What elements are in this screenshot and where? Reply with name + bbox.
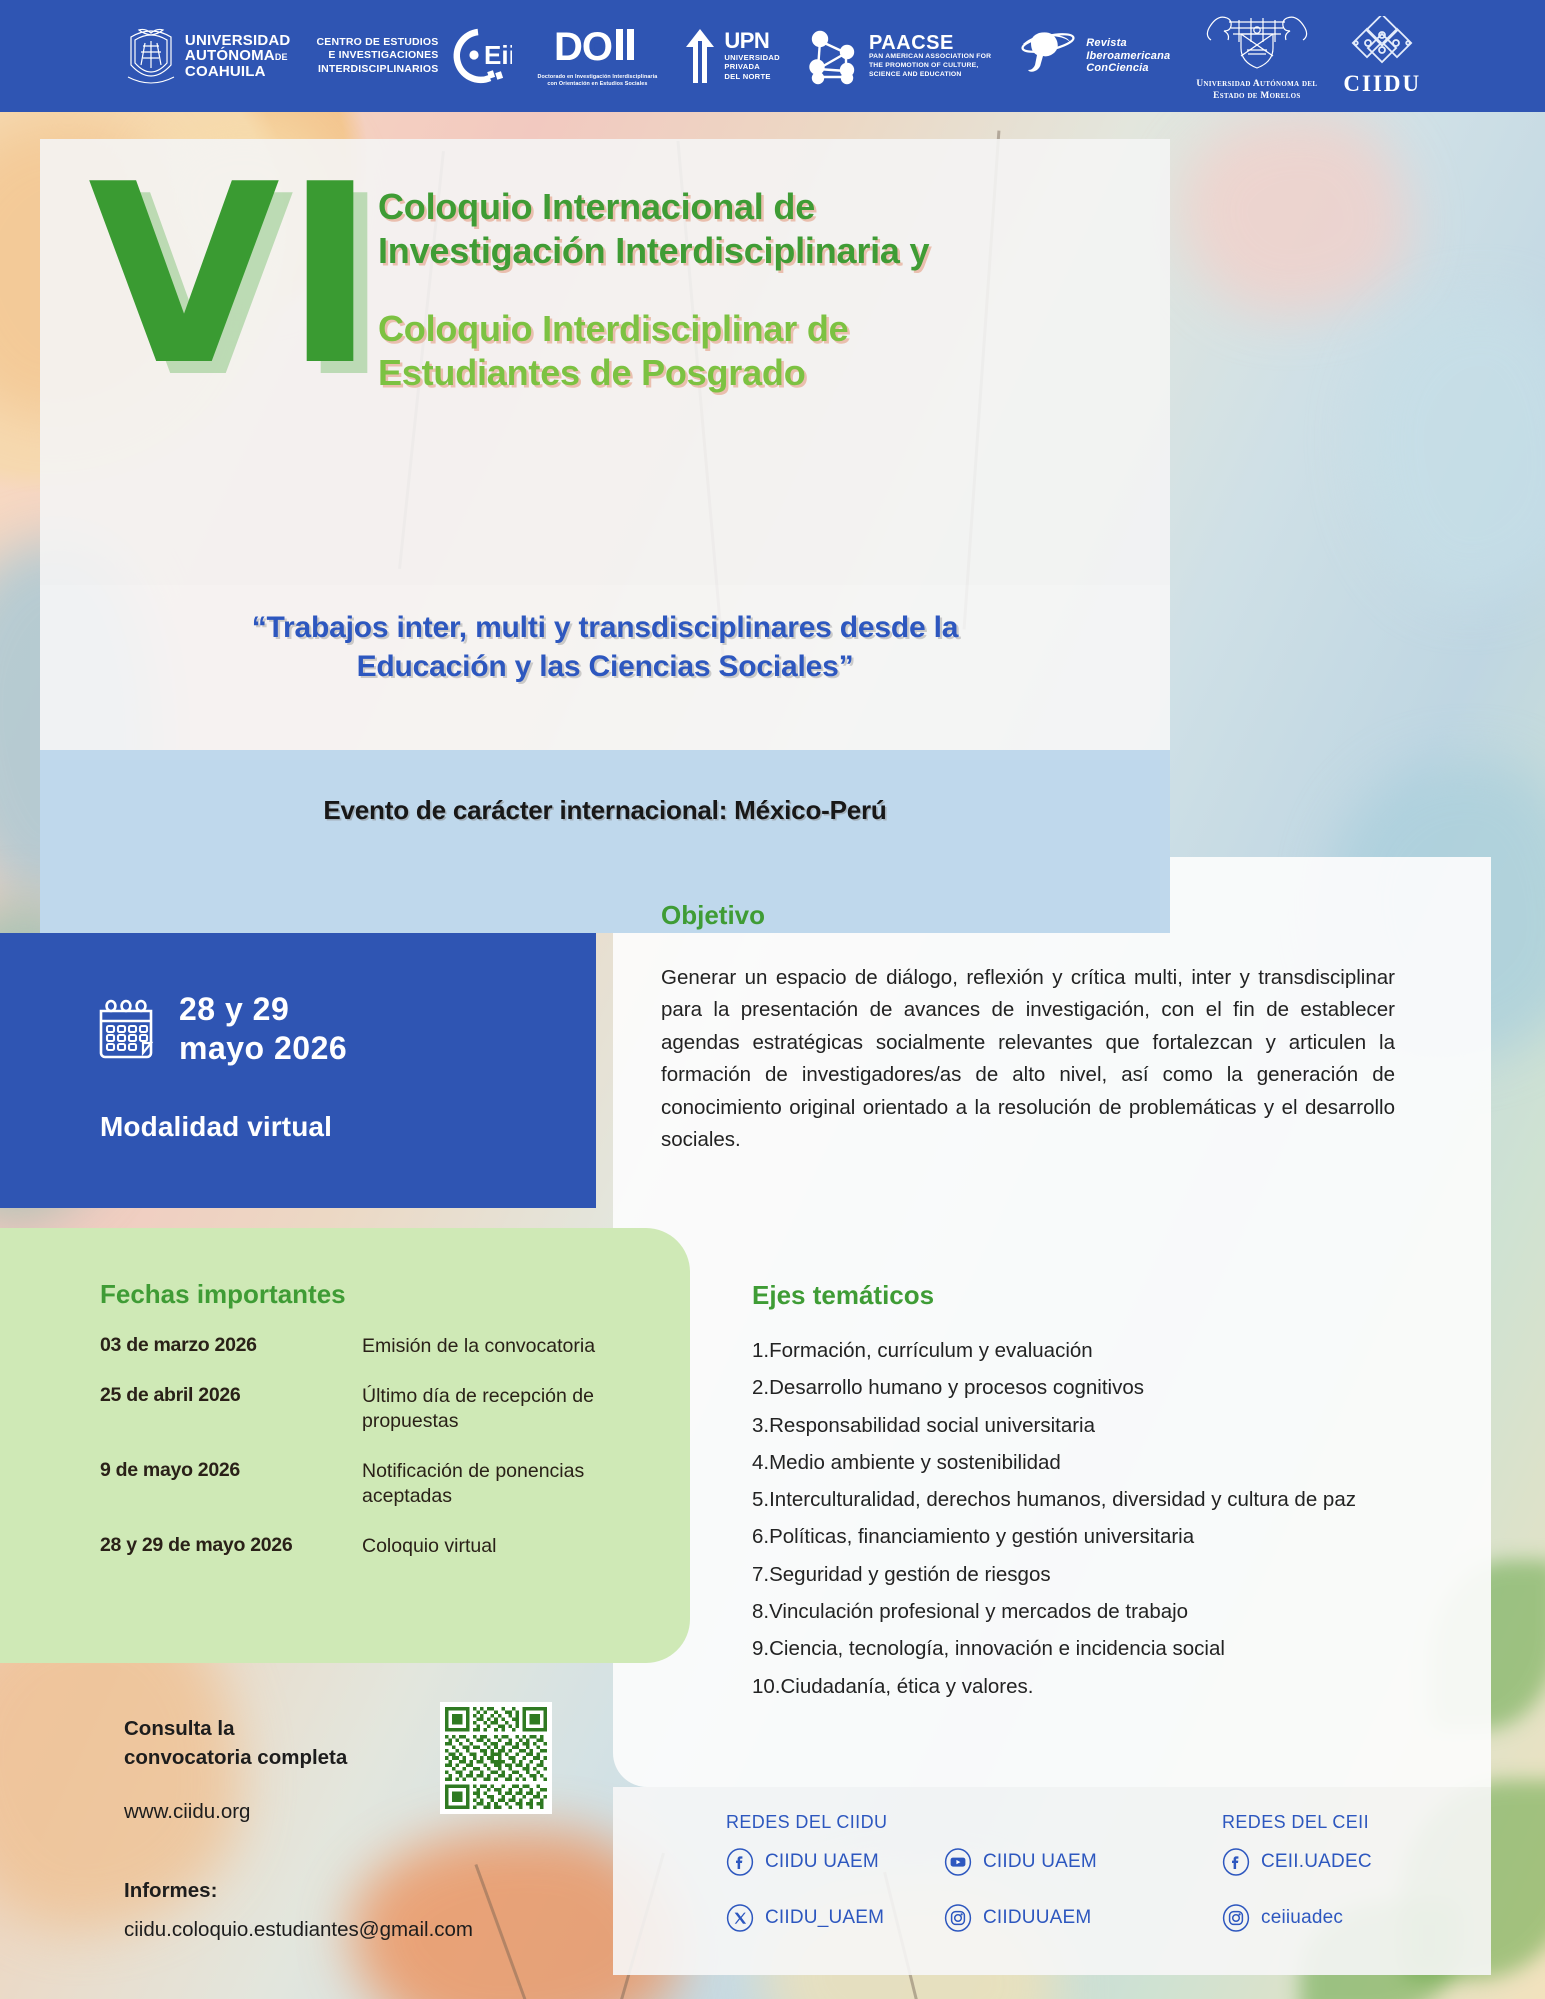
logo-paacse: PAACSE PAN AMERICAN ASSOCIATION FOR THE … [806,27,991,85]
instagram-icon [944,1904,972,1932]
logo-universidad-autonoma-de-coahuila: UNIVERSIDAD AUTÓNOMADE COAHUILA [124,21,291,91]
theme-item: 1.Formación, currículum y evaluación [752,1337,1392,1365]
important-date-value: 03 de marzo 2026 [100,1334,362,1359]
theme-text: Formación, currículum y evaluación [769,1339,1093,1362]
upn-arrow-icon [683,25,717,87]
calendar-icon [95,997,159,1061]
social-link-ciidu-youtube[interactable]: CIIDU UAEM [944,1848,1097,1876]
social-link-ceii-facebook[interactable]: CEII.UADEC [1222,1848,1372,1876]
social-link-ciidu-x[interactable]: CIIDU_UAEM [726,1904,884,1932]
ceii-monogram-icon: Eii [446,27,512,85]
social-link-ciidu-instagram[interactable]: CIIDUUAEM [944,1904,1091,1932]
important-date-row: 25 de abril 2026 Último día de recepción… [100,1384,660,1434]
event-theme-quote-line1: “Trabajos inter, multi y transdisciplina… [60,608,1150,647]
paacse-sub2: THE PROMOTION OF CULTURE, [869,62,991,71]
sponsor-logo-bar: UNIVERSIDAD AUTÓNOMADE COAHUILA CENTRO D… [0,0,1545,112]
upn-wordmark: UPN UNIVERSIDAD PRIVADA DEL NORTE [724,30,780,82]
theme-number: 7. [752,1563,769,1586]
uaem-sub2: Estado de Morelos [1196,91,1317,102]
theme-text: Medio ambiente y sostenibilidad [769,1451,1061,1474]
theme-text: Desarrollo humano y procesos cognitivos [769,1376,1144,1399]
paacse-wordmark: PAACSE PAN AMERICAN ASSOCIATION FOR THE … [869,33,991,80]
qr-code-icon[interactable] [440,1702,552,1814]
event-date-month-year: mayo 2026 [179,1029,347,1068]
social-label: CEII.UADEC [1261,1851,1372,1873]
important-dates-heading: Fechas importantes [100,1279,346,1310]
important-date-row: 28 y 29 de mayo 2026 Coloquio virtual [100,1534,660,1559]
uadec-line1: UNIVERSIDAD [185,33,291,48]
important-date-desc: Coloquio virtual [362,1534,496,1559]
qr-code-svg [445,1707,547,1809]
theme-text: Ciudadanía, ética y valores. [781,1675,1034,1698]
revista-line2: Iberoamericana [1086,50,1170,63]
logo-revista-iberoamericana-conciencia: Revista Iberoamericana ConCiencia [1017,27,1170,85]
important-date-value: 9 de mayo 2026 [100,1459,362,1509]
international-band [40,750,1170,933]
theme-item: 10.Ciudadanía, ética y valores. [752,1673,1392,1701]
theme-number: 10. [752,1675,781,1698]
logo-ciidu: CIIDU [1343,16,1421,96]
upn-sub2: PRIVADA [724,62,780,72]
uadec-wordmark: UNIVERSIDAD AUTÓNOMADE COAHUILA [185,33,291,79]
ceii-line1: CENTRO DE ESTUDIOS [316,36,438,49]
youtube-icon [944,1848,972,1876]
revista-line3: ConCiencia [1086,62,1170,75]
revista-wordmark: Revista Iberoamericana ConCiencia [1086,37,1170,75]
head-planet-icon [1017,27,1079,85]
event-title-primary: Coloquio Internacional de Investigación … [378,185,1148,273]
revista-line1: Revista [1086,37,1170,50]
social-label: CIIDU_UAEM [765,1907,884,1929]
logo-upn: UPN UNIVERSIDAD PRIVADA DEL NORTE [683,25,780,87]
theme-number: 5. [752,1488,769,1511]
paacse-sub1: PAN AMERICAN ASSOCIATION FOR [869,53,991,62]
theme-number: 4. [752,1451,769,1474]
uaem-crest-icon [1199,10,1315,72]
doii-monogram-icon: DO [554,25,640,67]
logo-doii: DO Doctorado en Investigación Interdisci… [538,25,658,88]
event-title-secondary: Coloquio Interdisciplinar de Estudiantes… [378,307,1148,395]
themes-list: 1.Formación, currículum y evaluación 2.D… [752,1337,1392,1710]
theme-text: Responsabilidad social universitaria [769,1414,1095,1437]
bg-blob-3 [1180,115,1410,315]
important-date-desc: Notificación de ponencias aceptadas [362,1459,660,1509]
theme-number: 8. [752,1600,769,1623]
event-modality: Modalidad virtual [100,1111,332,1143]
uadec-line3: COAHUILA [185,64,291,79]
important-dates-list: 03 de marzo 2026 Emisión de la convocato… [100,1334,660,1584]
ceii-line2: E INVESTIGACIONES [316,49,438,62]
doii-sub1: Doctorado en Investigación Interdiscipli… [538,74,658,81]
doii-sub2: con Orientación en Estudios Sociales [538,81,658,88]
event-date-days: 28 y 29 [179,990,347,1029]
consult-call-line2: convocatoria completa [124,1743,424,1772]
event-date-row: 28 y 29 mayo 2026 [95,990,347,1068]
social-link-ceii-instagram[interactable]: ceiiuadec [1222,1904,1343,1932]
event-title-primary-line1: Coloquio Internacional de [378,185,1148,229]
uadec-crest-icon [124,21,178,91]
theme-item: 2.Desarrollo humano y procesos cognitivo… [752,1374,1392,1402]
facebook-icon [1222,1848,1250,1876]
logo-ceii: CENTRO DE ESTUDIOS E INVESTIGACIONES INT… [316,27,511,85]
uadec-line2: AUTÓNOMA [185,47,275,64]
theme-text: Vinculación profesional y mercados de tr… [769,1600,1188,1623]
edition-numeral: VI [88,180,380,373]
theme-number: 6. [752,1525,769,1548]
theme-text: Políticas, financiamiento y gestión univ… [769,1525,1194,1548]
theme-item: 5.Interculturalidad, derechos humanos, d… [752,1486,1392,1514]
theme-text: Seguridad y gestión de riesgos [769,1563,1051,1586]
svg-text:Eii: Eii [484,40,512,70]
consult-call-heading: Consulta la convocatoria completa [124,1714,424,1772]
ciidu-wordmark: CIIDU [1343,72,1421,96]
important-date-row: 03 de marzo 2026 Emisión de la convocato… [100,1334,660,1359]
social-label: ceiiuadec [1261,1907,1343,1929]
facebook-icon [726,1848,754,1876]
objective-body: Generar un espacio de diálogo, reflexión… [661,962,1395,1156]
uadec-line2-wrap: AUTÓNOMADE [185,48,291,63]
informes-label: Informes: [124,1879,217,1903]
svg-text:DO: DO [554,25,612,67]
social-label: CIIDU UAEM [983,1851,1097,1873]
ciidu-diamond-icon [1349,16,1415,66]
theme-text: Ciencia, tecnología, innovación e incide… [769,1637,1225,1660]
important-date-value: 25 de abril 2026 [100,1384,362,1434]
social-heading-ciidu: REDES DEL CIIDU [726,1812,887,1833]
uadec-line2-small: DE [275,52,288,62]
paacse-mark: PAACSE [869,33,991,54]
event-title-primary-line2: Investigación Interdisciplinaria y [378,229,1148,273]
important-date-row: 9 de mayo 2026 Notificación de ponencias… [100,1459,660,1509]
theme-item: 6.Políticas, financiamiento y gestión un… [752,1523,1392,1551]
instagram-icon [1222,1904,1250,1932]
theme-item: 7.Seguridad y gestión de riesgos [752,1561,1392,1589]
event-theme-quote: “Trabajos inter, multi y transdisciplina… [60,608,1150,686]
uaem-sub1: Universidad Autónoma del [1196,79,1317,90]
theme-item: 3.Responsabilidad social universitaria [752,1412,1392,1440]
ceii-wordmark: CENTRO DE ESTUDIOS E INVESTIGACIONES INT… [316,36,438,76]
event-title-block: Coloquio Internacional de Investigación … [378,185,1148,395]
theme-item: 9.Ciencia, tecnología, innovación e inci… [752,1635,1392,1663]
website-url[interactable]: www.ciidu.org [124,1800,250,1824]
theme-number: 2. [752,1376,769,1399]
theme-item: 4.Medio ambiente y sostenibilidad [752,1449,1392,1477]
objective-heading: Objetivo [661,900,765,931]
social-link-ciidu-facebook[interactable]: CIIDU UAEM [726,1848,879,1876]
social-label: CIIDUUAEM [983,1907,1091,1929]
event-date-block: 28 y 29 mayo 2026 Modalidad virtual [0,933,596,1208]
international-character-text: Evento de carácter internacional: México… [40,795,1170,826]
informes-email[interactable]: ciidu.coloquio.estudiantes@gmail.com [124,1918,473,1942]
ceii-line3: INTERDISCIPLINARIOS [316,63,438,76]
x-twitter-icon [726,1904,754,1932]
theme-number: 3. [752,1414,769,1437]
important-date-desc: Emisión de la convocatoria [362,1334,595,1359]
social-heading-ceii: REDES DEL CEII [1222,1812,1369,1833]
paacse-network-icon [806,27,862,85]
uaem-subtitle: Universidad Autónoma del Estado de Morel… [1196,79,1317,102]
paacse-sub3: SCIENCE AND EDUCATION [869,71,991,80]
logo-uaem: Universidad Autónoma del Estado de Morel… [1196,10,1317,102]
upn-mark: UPN [724,30,780,53]
theme-text: Interculturalidad, derechos humanos, div… [769,1488,1356,1511]
theme-number: 1. [752,1339,769,1362]
social-label: CIIDU UAEM [765,1851,879,1873]
event-theme-quote-line2: Educación y las Ciencias Sociales” [60,647,1150,686]
event-date-text: 28 y 29 mayo 2026 [179,990,347,1068]
important-date-desc: Último día de recepción de propuestas [362,1384,660,1434]
event-title-secondary-line1: Coloquio Interdisciplinar de [378,307,1148,351]
upn-sub1: UNIVERSIDAD [724,53,780,63]
upn-sub3: DEL NORTE [724,72,780,82]
theme-item: 8.Vinculación profesional y mercados de … [752,1598,1392,1626]
themes-heading: Ejes temáticos [752,1280,934,1311]
event-title-secondary-line2: Estudiantes de Posgrado [378,351,1148,395]
important-date-value: 28 y 29 de mayo 2026 [100,1534,362,1559]
consult-call-line1: Consulta la [124,1714,424,1743]
doii-subtitle: Doctorado en Investigación Interdiscipli… [538,74,658,88]
theme-number: 9. [752,1637,769,1660]
